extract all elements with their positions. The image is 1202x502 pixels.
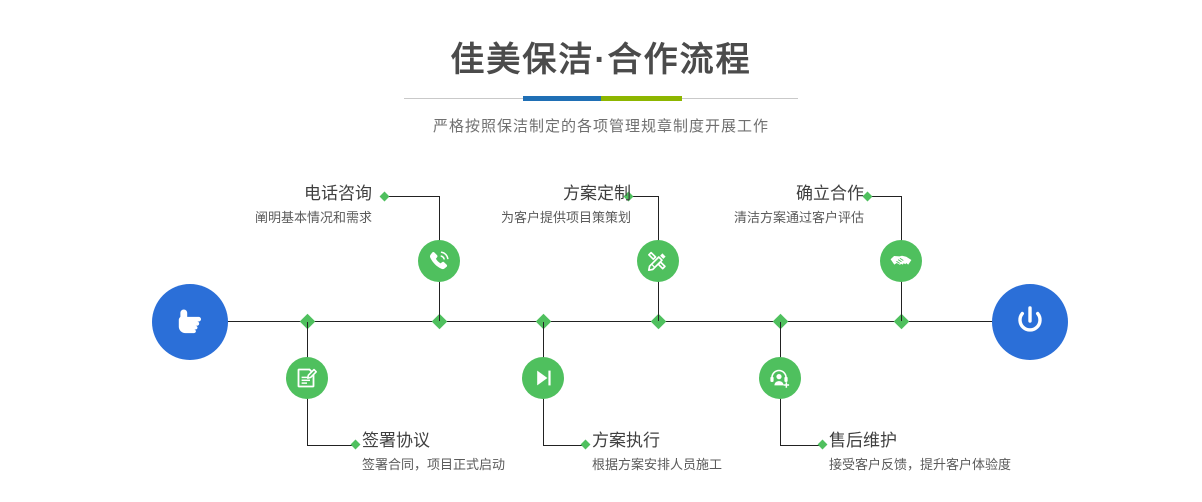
flow-end-node[interactable]: [992, 284, 1068, 360]
pointing-hand-icon: [170, 300, 210, 345]
step-icon-1[interactable]: [418, 240, 460, 282]
step-title-6: 售后维护: [829, 430, 1011, 452]
step-desc-1: 阐明基本情况和需求: [255, 208, 372, 228]
step-icon-3[interactable]: [637, 240, 679, 282]
step-label-4: 方案执行 根据方案安排人员施工: [592, 430, 722, 475]
connector-horizontal-1: [385, 196, 440, 197]
connector-horizontal-2: [307, 445, 355, 446]
customer-support-icon: [767, 365, 793, 391]
step-desc-5: 清洁方案通过客户评估: [734, 208, 864, 228]
document-edit-icon: [294, 365, 320, 391]
play-execute-icon: [530, 365, 556, 391]
step-label-3: 方案定制 为客户提供项目策策划: [501, 183, 631, 228]
step-title-3: 方案定制: [501, 183, 631, 205]
label-tick-5: [863, 192, 873, 202]
label-tick-4: [581, 440, 591, 450]
handshake-icon: [888, 248, 914, 274]
label-tick-1: [380, 192, 390, 202]
step-label-1: 电话咨询 阐明基本情况和需求: [255, 183, 372, 228]
cooperation-flow-infographic: 佳美保洁·合作流程 严格按照保洁制定的各项管理规章制度开展工作: [0, 0, 1202, 502]
flow-diagram: 电话咨询 阐明基本情况和需求 签署协议 签署合同，项目正式启动: [0, 0, 1202, 502]
connector-horizontal-6: [780, 445, 822, 446]
step-desc-3: 为客户提供项目策策划: [501, 208, 631, 228]
phone-call-icon: [426, 248, 452, 274]
step-title-5: 确立合作: [734, 183, 864, 205]
step-title-1: 电话咨询: [255, 183, 372, 205]
power-icon: [1010, 300, 1050, 345]
step-icon-5[interactable]: [880, 240, 922, 282]
step-label-6: 售后维护 接受客户反馈，提升客户体验度: [829, 430, 1011, 475]
pencil-ruler-icon: [645, 248, 671, 274]
step-icon-6[interactable]: [759, 357, 801, 399]
step-desc-6: 接受客户反馈，提升客户体验度: [829, 455, 1011, 475]
connector-horizontal-4: [543, 445, 585, 446]
step-title-4: 方案执行: [592, 430, 722, 452]
label-tick-2: [351, 440, 361, 450]
step-label-2: 签署协议 签署合同，项目正式启动: [362, 430, 505, 475]
step-icon-2[interactable]: [286, 357, 328, 399]
step-label-5: 确立合作 清洁方案通过客户评估: [734, 183, 864, 228]
connector-horizontal-5: [868, 196, 902, 197]
timeline-axis: [224, 321, 996, 322]
flow-start-node[interactable]: [152, 284, 228, 360]
label-tick-6: [818, 440, 828, 450]
step-desc-2: 签署合同，项目正式启动: [362, 455, 505, 475]
step-title-2: 签署协议: [362, 430, 505, 452]
step-icon-4[interactable]: [522, 357, 564, 399]
step-desc-4: 根据方案安排人员施工: [592, 455, 722, 475]
